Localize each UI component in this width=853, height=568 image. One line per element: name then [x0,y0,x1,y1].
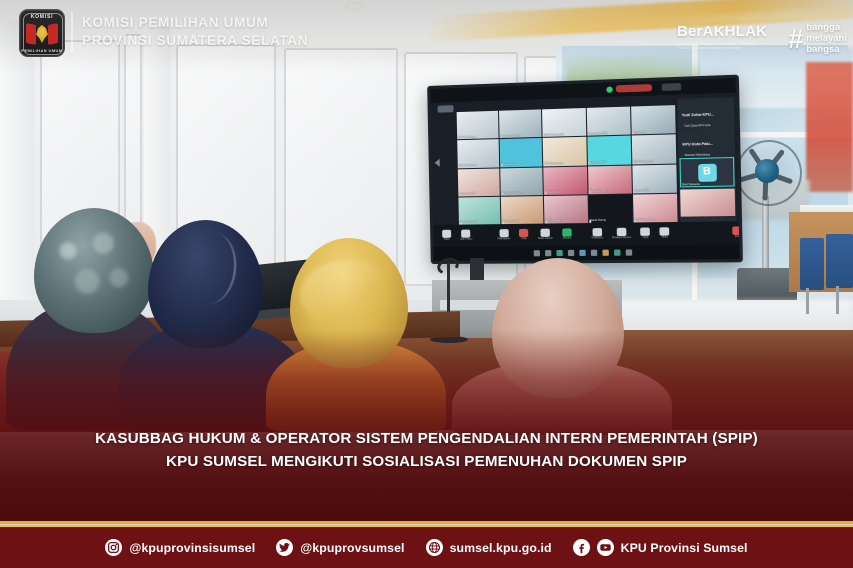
zoom-end-button[interactable]: End [732,227,742,239]
chair-leg [806,288,809,314]
fan-base [737,268,797,302]
taskbar-item[interactable] [614,250,620,256]
button-label: Chat [521,238,526,240]
button-label: Breakout Rooms [612,237,631,240]
taskbar-item[interactable] [602,250,608,256]
recording-label [616,84,652,93]
zoom-apps-button[interactable]: Apps [641,228,651,240]
taskbar-item[interactable] [556,250,562,256]
taskbar-item[interactable] [534,250,540,256]
participant-tile[interactable]: KPU Kab Ogan [457,111,499,140]
participant-tile[interactable]: Sekretariat KPU [586,107,630,136]
sidebar-participant-1[interactable]: KPU Kota Palu... Marwan Palembang [679,129,734,158]
apps-icon [641,228,651,236]
org-line-1: KOMISI PEMILIHAN UMUM [82,14,308,32]
berakhlak-title: BerAKHLAK [677,24,773,39]
sidebar-name: Marwan Palembang [685,153,710,157]
logo-red-right [48,23,58,45]
camera-icon [461,230,470,238]
footer-bar: @kpuprovinsisumsel @kpuprovsumsel sumsel… [0,527,853,568]
participant-name: KPU Kab Ogan [458,136,476,139]
participant-tile[interactable]: Bawaslu Sumsel [499,109,542,138]
bangga-line-1: bangga [806,22,840,33]
logo-bottom-text: PEMILIHAN UMUM [19,48,65,53]
taskbar-item[interactable] [568,250,574,256]
sidebar-title: Yudi Zulsa KPU... [682,112,714,117]
participant-tile[interactable]: KPU Banyuasin [543,137,586,166]
bangga-melayani-bangsa-logo: # bangga melayani bangsa [788,22,847,56]
bottom-red-gradient-overlay [0,330,853,522]
participant-tile[interactable]: KPU Prabumulih [542,108,585,137]
participant-name: KPU Banyuasin [545,163,564,166]
instagram-icon[interactable] [105,539,122,556]
microphone-icon [442,230,451,238]
zoom-share-button[interactable]: Share Screen [538,229,553,241]
caption-block: KASUBBAG HUKUM & OPERATOR SISTEM PENGEND… [0,428,853,474]
button-label: End [735,236,740,239]
participant-tile[interactable]: Kasubbag Hukum [500,138,543,167]
zoom-reactions-button[interactable]: Reactions [591,228,602,240]
participant-name: Tim SPIP KPU RI [589,191,610,194]
participant-tile[interactable]: KPU Empat Lawang [544,195,587,224]
zoom-sidebar: Yudi Zulsa KPU... Yudi Zulsa KPU Kota KP… [677,97,737,226]
outside-red-building [806,62,853,192]
zoom-meeting-window: KPU Kab Ogan Bawaslu Sumsel KPU Prabumul… [430,78,739,261]
zoom-chat-button[interactable]: Chat [519,229,528,241]
button-label: Reactions [592,238,603,241]
avatar: B [697,163,716,181]
mic-icon [680,189,735,190]
twitter-icon[interactable] [276,539,293,556]
sidebar-name: Yudi Zulsa KPU Kota [684,124,710,128]
recording-indicator-icon [606,86,612,92]
participant-tile[interactable]: KPU Kota Lubuk [632,135,677,164]
gallery-prev-icon[interactable] [435,159,440,167]
bangga-text: bangga melayani bangsa [806,22,847,56]
logo-red-left [26,23,36,45]
participant-tile[interactable]: Operator SPIP [587,136,631,165]
org-line-2: PROVINSI SUMATERA SELATAN [82,32,308,50]
zoom-breakout-button[interactable]: Breakout Rooms [612,228,631,240]
share-screen-icon [541,229,550,237]
sidebar-title: KPU Kota Palu... [682,142,713,147]
chat-icon [519,229,528,237]
zoom-participants-button[interactable]: Participants [497,229,510,241]
end-call-icon [732,227,742,236]
sidebar-participant-0[interactable]: Yudi Zulsa KPU... Yudi Zulsa KPU Kota [678,99,733,128]
attendee-3-hijab-fold [300,260,395,330]
fan-pole [762,196,769,272]
television-display: KPU Kab Ogan Bawaslu Sumsel KPU Prabumul… [427,75,743,264]
participant-tile[interactable]: KPU Muara Enim [633,194,678,223]
social-page-name: KPU Provinsi Sumsel [621,541,748,555]
hashtag-icon: # [788,27,803,51]
reactions-icon [592,228,602,236]
zoom-more-button[interactable]: More [660,228,670,240]
poster-graphic: KPU Kab Ogan Bawaslu Sumsel KPU Prabumul… [0,0,853,568]
zoom-video-button[interactable]: Start Video [460,230,472,242]
participant-tile[interactable]: Rapat Daring [588,194,632,223]
fan-hub [755,159,779,183]
website-url: sumsel.kpu.go.id [450,541,552,555]
button-label: Share Screen [538,238,553,241]
participant-tile[interactable]: Peserta Zoom [501,196,544,224]
facebook-icon[interactable] [573,539,590,556]
participant-name: Ruang Rapat KPU [502,192,524,195]
participant-name: Kasubbag Hukum [501,164,522,167]
participant-name: Bawaslu Sumsel [501,135,521,138]
button-label: Record [563,238,571,241]
waiting-chair [826,234,853,288]
kpu-logo-icon: KOMISI PEMILIHAN UMUM [19,9,65,57]
header-divider [71,12,73,52]
participant-tile[interactable]: Humas KPU [632,164,677,193]
button-label: Participants [497,239,510,242]
taskbar-item[interactable] [626,249,633,255]
caption-line-1: KASUBBAG HUKUM & OPERATOR SISTEM PENGEND… [0,428,853,451]
sidebar-participant-video[interactable] [680,189,735,217]
participant-name: Novita Sari [545,192,558,195]
zoom-toolbar: Mute Start Video Participants Chat [433,221,743,247]
participant-gallery: KPU Kab Ogan Bawaslu Sumsel KPU Prabumul… [457,105,678,225]
caption-line-2: KPU SUMSEL MENGIKUTI SOSIALISASI PEMENUH… [0,451,853,474]
more-icon [660,228,670,236]
participant-tile[interactable]: Ruang Rapat KPU [500,167,543,196]
globe-icon[interactable] [426,539,443,556]
participant-name: Inspektorat [633,132,647,135]
button-label: Start Video [460,239,472,242]
participant-tile[interactable]: KPU Kab Lahat [458,197,500,225]
zoom-mute-button[interactable]: Mute [442,230,451,242]
participant-tile[interactable]: Inspektorat [631,105,676,135]
zoom-record-button[interactable]: Record [562,229,572,241]
bangga-line-2: melayani [806,33,847,44]
record-icon [562,229,572,237]
header-bar: KOMISI PEMILIHAN UMUM KOMISI PEMILIHAN U… [0,0,853,64]
participant-tile[interactable]: KPU Kab OKI [458,168,500,196]
bangga-line-3: bangsa [806,44,839,55]
participant-name: Humas KPU [634,190,649,193]
participant-tile[interactable]: KPU Kab Muba [457,139,499,168]
participant-name: Sekretariat KPU [588,133,608,136]
taskbar-item[interactable] [545,250,551,256]
breakout-icon [617,228,627,236]
button-label: Mute [444,239,449,241]
participant-name: KPU Kab OKI [459,193,475,196]
taskbar-item[interactable] [579,250,585,256]
participant-name: Operator SPIP [589,162,607,165]
attendee-1-hijab-pattern [44,222,140,318]
twitter-handle: @kpuprovsumsel [300,541,404,555]
participants-icon [499,229,508,237]
button-label: Apps [643,237,649,240]
participant-name: KPU Prabumulih [544,134,564,137]
participant-tile[interactable]: Tim SPIP KPU RI [588,165,632,194]
participant-name: KPU Kab Muba [459,165,477,168]
chair-leg [836,286,839,314]
active-speaker-tile[interactable]: B Budi Siswanto [679,157,734,187]
organization-title: KOMISI PEMILIHAN UMUM PROVINSI SUMATERA … [82,14,308,50]
instagram-handle: @kpuprovinsisumsel [129,541,255,555]
logo-top-text: KOMISI [19,14,65,20]
avatar-name: Budi Siswanto [682,183,700,186]
zoom-logo [438,105,454,113]
waiting-chair [800,238,824,290]
youtube-icon[interactable] [597,539,614,556]
berakhlak-subtitle: Berorientasi Pelayanan, Akuntabel, Kompe… [677,42,773,51]
participant-tile[interactable]: Novita Sari [544,166,587,195]
taskbar-item[interactable] [591,250,597,256]
participant-name: KPU Kota Lubuk [633,161,654,164]
berakhlak-logo: BerAKHLAK Berorientasi Pelayanan, Akunta… [677,24,773,51]
gold-divider-top [0,521,853,524]
button-label: More [662,237,668,240]
view-button[interactable] [662,83,682,91]
